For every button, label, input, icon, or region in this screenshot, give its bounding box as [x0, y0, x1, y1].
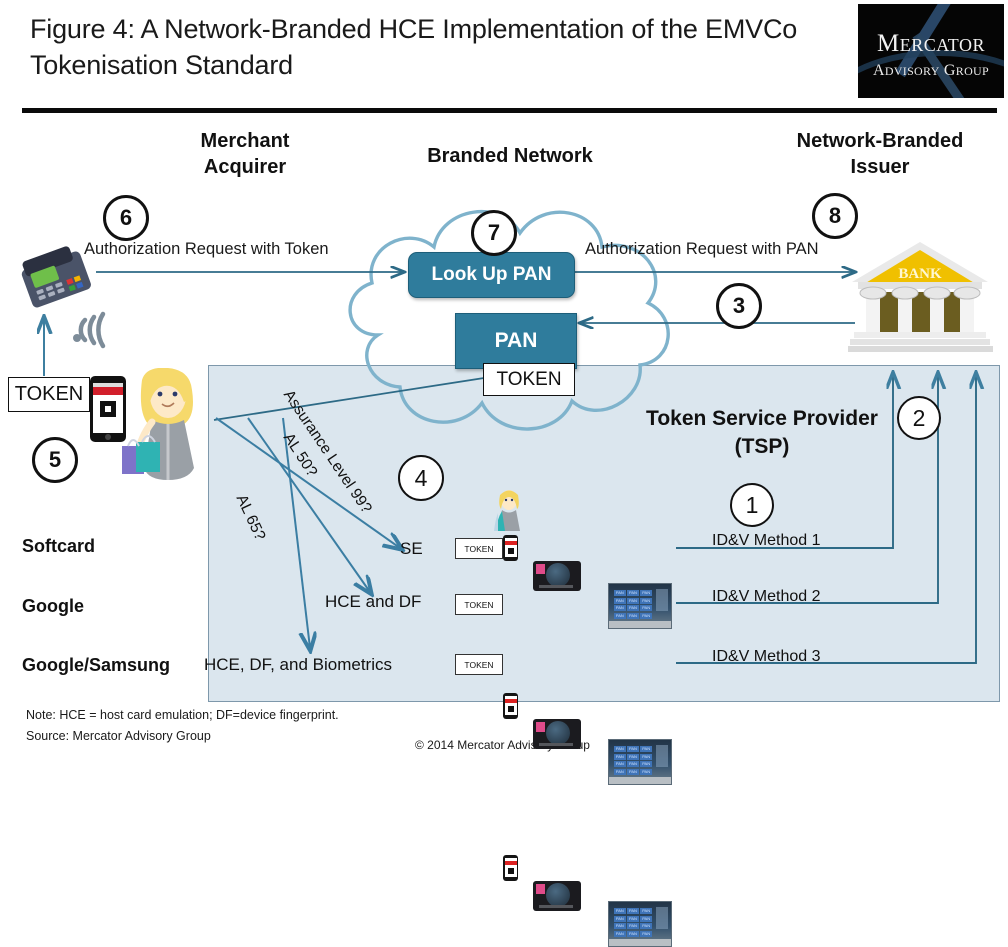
step-badge-2: 2 — [897, 396, 941, 440]
option-label-hce-df: HCE and DF — [325, 592, 421, 612]
step-badge-3: 3 — [716, 283, 762, 329]
step-badge-1: 1 — [730, 483, 774, 527]
mini-token-box-row2: TOKEN — [455, 594, 503, 615]
mini-datacenter-icon-row1: PANPANPANPANPANPANPANPANPANPANPANPAN — [608, 583, 672, 629]
mini-consumer-icon — [493, 489, 525, 533]
smartphone-icon — [88, 375, 128, 443]
step-badge-5: 5 — [32, 437, 78, 483]
idv-method-label-2: ID&V Method 2 — [712, 588, 821, 606]
mini-card-icon-row1 — [533, 561, 581, 591]
contactless-wifi-icon — [68, 305, 122, 355]
issuer-bank-icon: BANK — [848, 238, 993, 356]
wallet-label-google-samsung: Google/Samsung — [22, 655, 170, 676]
column-heading-branded-network: Branded Network — [390, 143, 630, 169]
logo-name-line2: ADVISORY GROUP — [858, 62, 1004, 80]
option-label-hce-df-biometrics: HCE, DF, and Biometrics — [204, 655, 392, 675]
consumer-shopper-icon — [118, 368, 218, 486]
mini-datacenter-icon-row3: PANPANPANPANPANPANPANPANPANPANPANPAN — [608, 901, 672, 947]
mini-datacenter-icon-row2: PANPANPANPANPANPANPANPANPANPANPANPAN — [608, 739, 672, 785]
mini-token-box-row3: TOKEN — [455, 654, 503, 675]
step-badge-7: 7 — [471, 210, 517, 256]
footnote-source: Source: Mercator Advisory Group — [26, 729, 211, 743]
logo-name-line1: MERCATOR — [858, 30, 1004, 58]
mini-card-icon-row2 — [533, 719, 581, 749]
mini-token-box-row1: TOKEN — [455, 538, 503, 559]
step-badge-6: 6 — [103, 195, 149, 241]
mini-phone-icon-row1 — [503, 535, 518, 561]
token-box-left: TOKEN — [8, 377, 90, 412]
step-badge-4: 4 — [398, 455, 444, 501]
look-up-pan-box[interactable]: Look Up PAN — [408, 252, 575, 298]
option-label-se: SE — [400, 539, 423, 559]
mercator-logo: MERCATOR ADVISORY GROUP — [858, 4, 1004, 98]
page-title: Figure 4: A Network-Branded HCE Implemen… — [30, 12, 830, 84]
flow-label-auth-request-token: Authorization Request with Token — [84, 240, 329, 259]
flow-label-auth-request-pan: Authorization Request with PAN — [585, 240, 819, 259]
mini-card-icon-row3 — [533, 881, 581, 911]
mini-phone-icon-row3 — [503, 855, 518, 881]
tsp-title: Token Service Provider (TSP) — [612, 405, 912, 462]
footnote-note: Note: HCE = host card emulation; DF=devi… — [26, 708, 339, 722]
wallet-label-google: Google — [22, 596, 84, 617]
idv-method-label-3: ID&V Method 3 — [712, 648, 821, 666]
bank-label-text: BANK — [898, 266, 942, 282]
idv-method-label-1: ID&V Method 1 — [712, 532, 821, 550]
column-heading-network-branded-issuer: Network-Branded Issuer — [760, 128, 1000, 180]
step-badge-8: 8 — [812, 193, 858, 239]
token-box-center: TOKEN — [483, 363, 575, 396]
column-heading-merchant-acquirer: Merchant Acquirer — [130, 128, 360, 180]
mini-phone-icon-row2 — [503, 693, 518, 719]
wallet-label-softcard: Softcard — [22, 536, 95, 557]
header-divider — [22, 108, 997, 113]
pan-box[interactable]: PAN — [455, 313, 577, 369]
